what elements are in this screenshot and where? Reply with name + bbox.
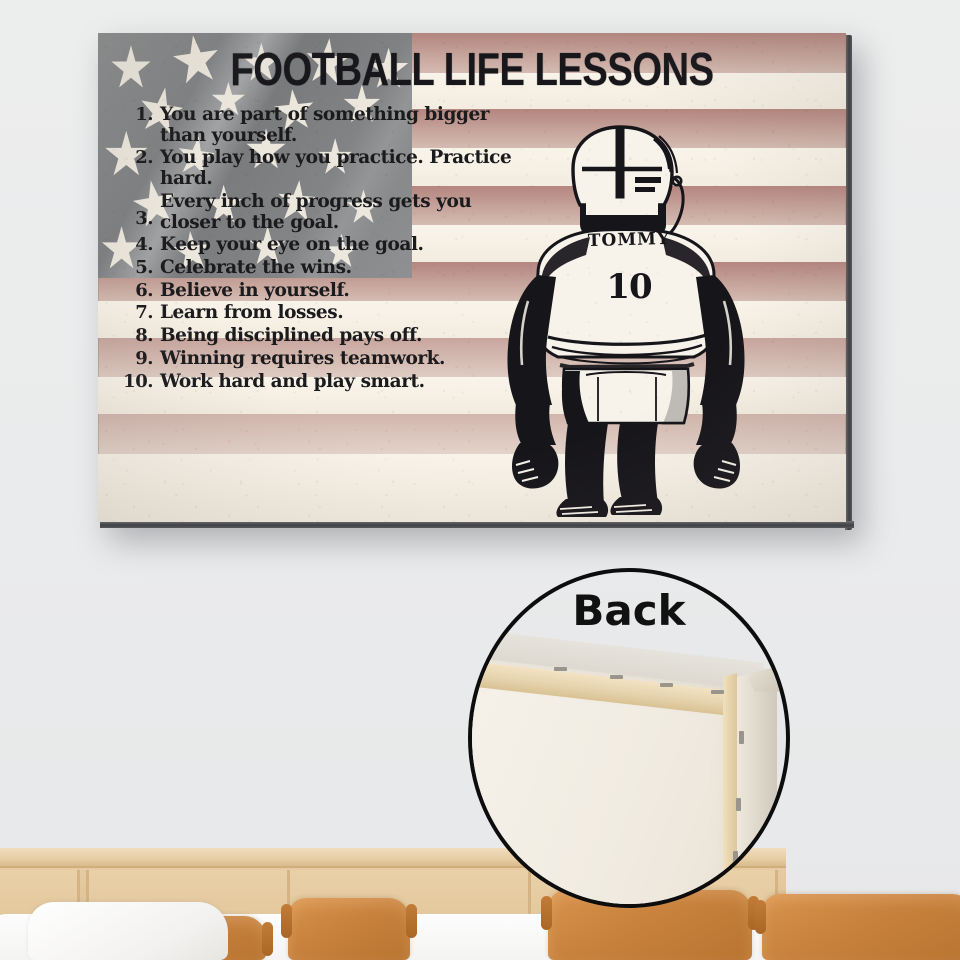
canvas-side-frame [723,673,737,906]
list-item-text: Learn from losses. [160,303,530,324]
bed-pillow [28,902,228,960]
list-item-text: Winning requires teamwork. [160,349,530,370]
list-item: 5. Celebrate the wins. [118,258,530,279]
list-item-number: 1. [118,105,160,125]
list-item-text: You are part of something bigger than yo… [160,105,530,146]
list-item-text: Keep your eye on the goal. [160,235,530,256]
list-item-text: You play how you practice. Practice hard… [160,148,530,189]
list-item-number: 9. [118,349,160,369]
list-item: 7. Learn from losses. [118,303,530,324]
list-item-number: 4. [118,235,160,255]
inset-label: Back [472,586,786,635]
list-item: 10. Work hard and play smart. [118,372,530,393]
list-item: 8. Being disciplined pays off. [118,326,530,347]
list-item-text: Celebrate the wins. [160,258,530,279]
list-item: 6. Believe in yourself. [118,281,530,302]
accent-pillow [762,894,960,960]
canvas-right-edge [845,35,852,530]
jersey-name-text: Tommy [588,229,671,251]
list-item-text: Believe in yourself. [160,281,530,302]
list-item-number: 7. [118,303,160,323]
list-item-number: 5. [118,258,160,278]
canvas-artwork-face: Tommy 10 FOOTBALL LIFE LESSONS 1. You ar… [98,33,846,522]
list-item-number: 2. [118,148,160,168]
list-item: 9. Winning requires teamwork. [118,349,530,370]
football-player-illustration: Tommy 10 [494,125,764,522]
list-item-number: 10. [118,372,160,392]
helmet-shape [573,127,683,238]
staple [739,731,744,744]
list-item-text: Every inch of progress gets you closer t… [160,192,530,233]
staple [711,690,724,694]
canvas-side-wrap [736,667,777,908]
staple [736,798,741,811]
accent-pillow [288,898,410,960]
back-detail-inset[interactable]: Back [468,568,790,908]
staple [554,667,567,671]
canvas-bottom-edge [100,521,854,528]
list-item: 2. You play how you practice. Practice h… [118,148,530,189]
list-item-number: 3. [118,192,160,229]
list-item-number: 8. [118,326,160,346]
list-item-text: Work hard and play smart. [160,372,530,393]
jersey-number-text: 10 [606,267,651,307]
product-mockup-scene: Tommy 10 FOOTBALL LIFE LESSONS 1. You ar… [0,0,960,960]
poster-title: FOOTBALL LIFE LESSONS [124,43,820,97]
list-item: 3. Every inch of progress gets you close… [118,192,530,233]
list-item-text: Being disciplined pays off. [160,326,530,347]
pants-shape [562,369,690,425]
list-item: 1. You are part of something bigger than… [118,105,530,146]
staple [660,683,673,687]
wall-canvas-print[interactable]: Tommy 10 FOOTBALL LIFE LESSONS 1. You ar… [98,33,852,528]
legs-shape [556,423,662,517]
lessons-list: 1. You are part of something bigger than… [118,105,530,394]
staple [610,675,623,679]
staple [733,851,738,864]
list-item: 4. Keep your eye on the goal. [118,235,530,256]
list-item-number: 6. [118,281,160,301]
